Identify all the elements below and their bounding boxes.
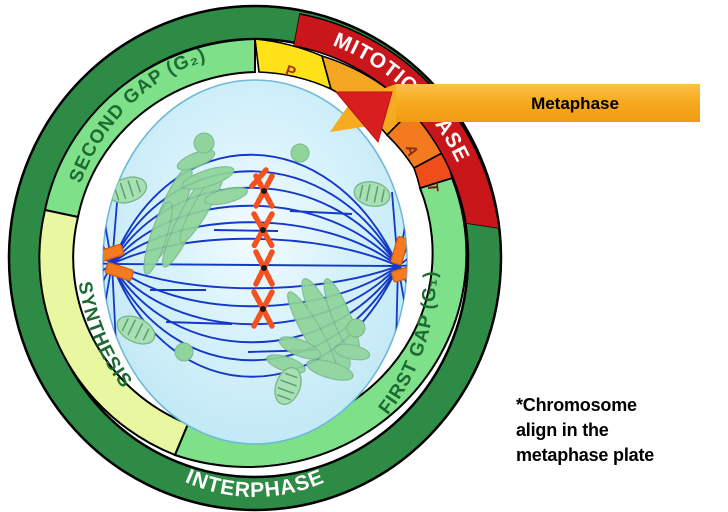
metaphase-note: *Chromosome align in the metaphase plate — [516, 393, 654, 468]
metaphase-callout-label: Metaphase — [531, 94, 619, 113]
note-line-3: metaphase plate — [516, 443, 654, 468]
telophase-letter: T — [424, 182, 442, 193]
note-line-2: align in the — [516, 418, 654, 443]
note-line-1: *Chromosome — [516, 393, 654, 418]
cell-cycle-figure: INTERPHASE SECOND GAP (G₂) SYNTHESIS FIR… — [0, 0, 728, 512]
